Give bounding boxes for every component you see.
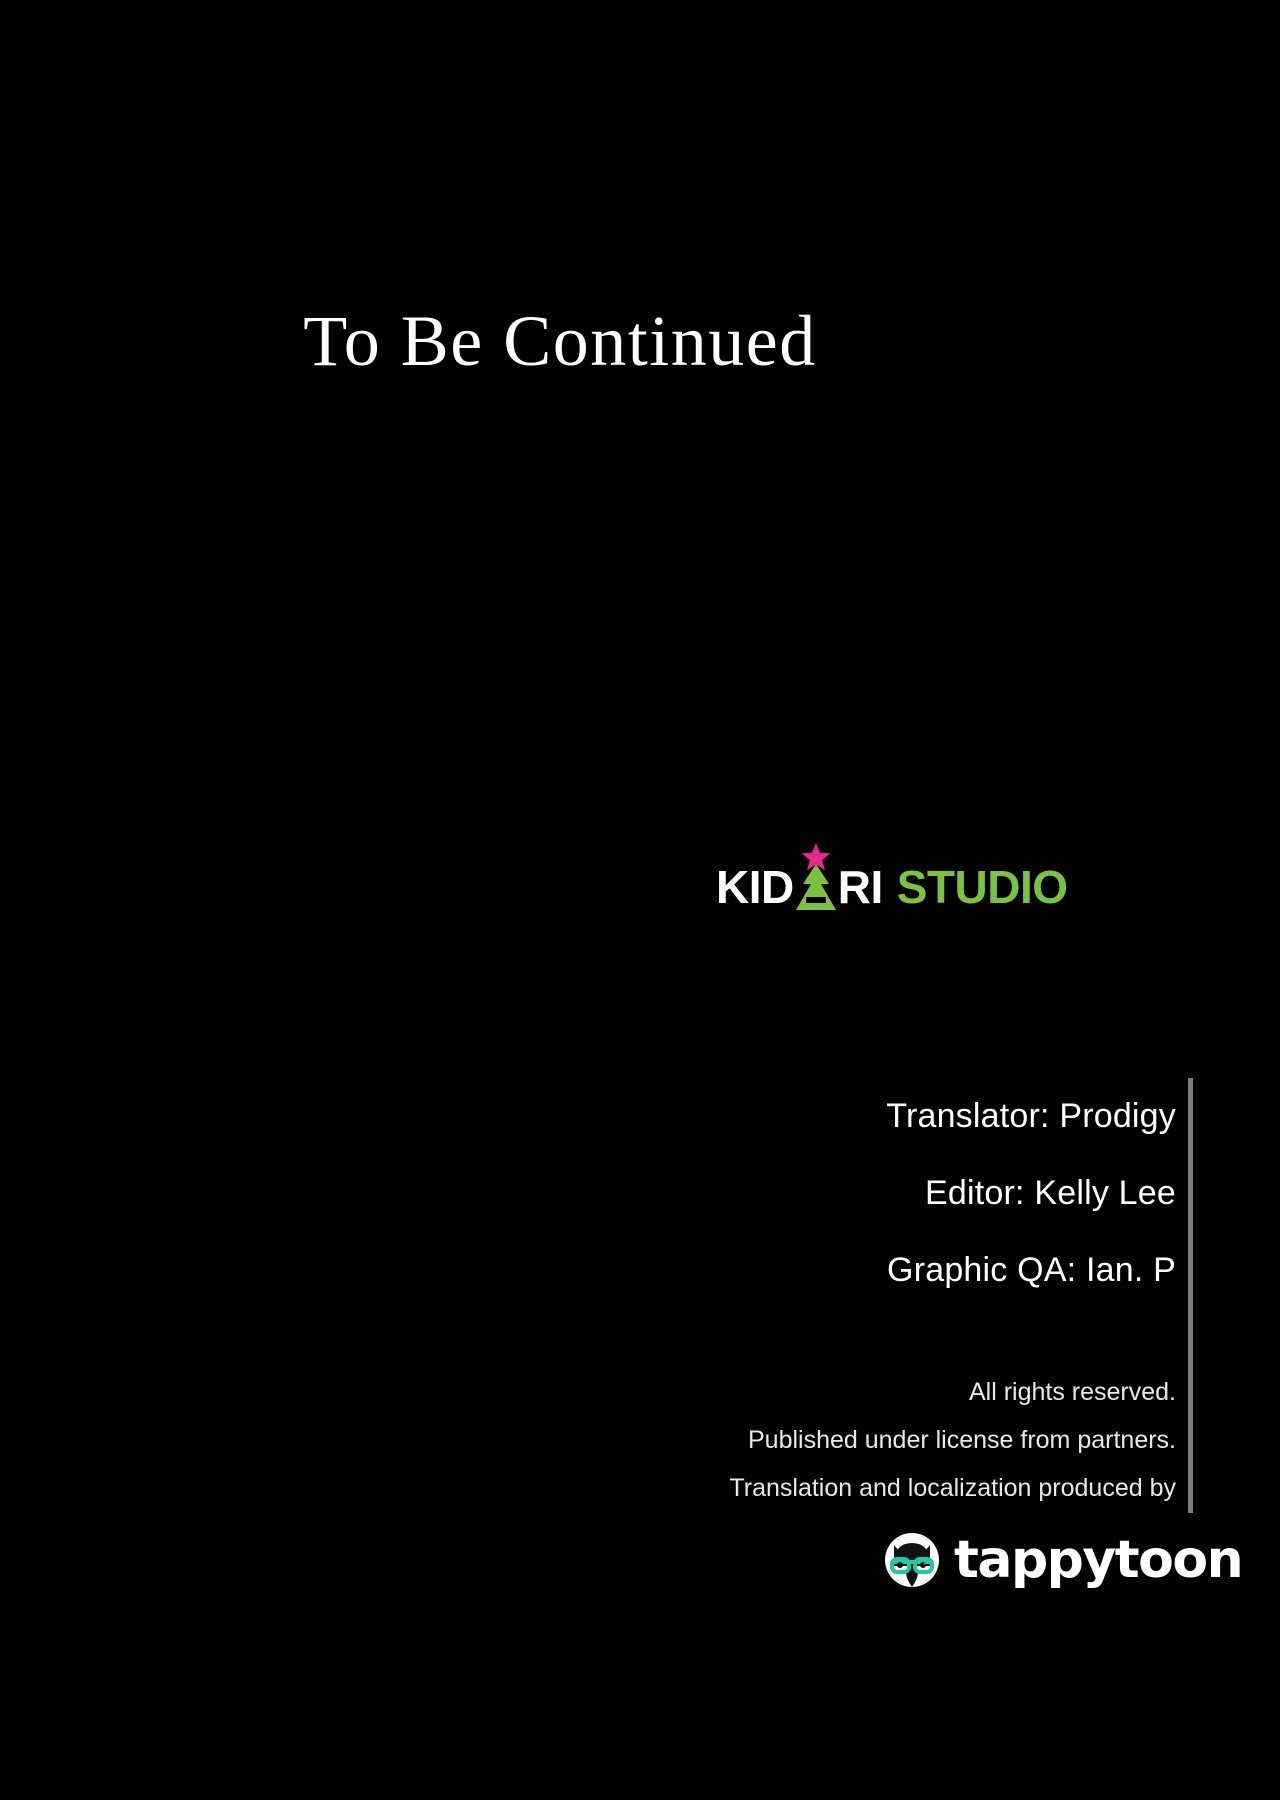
credits-block: Translator: Prodigy Editor: Kelly Lee Gr… <box>536 1078 1176 1309</box>
kidari-studio-wordmark: KID RI STUDIO <box>716 864 1068 910</box>
page-canvas: To Be Continued KID RI STUDIO <box>0 0 1280 1800</box>
credits-divider <box>1188 1078 1193 1513</box>
tappytoon-logo: tappytoon <box>884 1528 1242 1592</box>
to-be-continued-title: To Be Continued <box>0 305 1120 377</box>
kidari-studio-logo: KID RI STUDIO <box>716 820 1056 910</box>
cat-with-glasses-icon <box>884 1532 940 1588</box>
credit-translator: Translator: Prodigy <box>536 1078 1176 1155</box>
credit-editor: Editor: Kelly Lee <box>536 1155 1176 1232</box>
kidari-text-kid: KID <box>716 864 794 910</box>
kidari-text-studio: STUDIO <box>897 864 1068 910</box>
fineprint-block: All rights reserved. Published under lic… <box>416 1368 1176 1512</box>
tappytoon-wordmark: tappytoon <box>954 1534 1242 1586</box>
fineprint-localization: Translation and localization produced by <box>416 1464 1176 1512</box>
tree-a-icon <box>794 864 838 910</box>
fineprint-rights: All rights reserved. <box>416 1368 1176 1416</box>
fineprint-license: Published under license from partners. <box>416 1416 1176 1464</box>
kidari-text-ri: RI <box>838 864 883 910</box>
credit-graphic-qa: Graphic QA: Ian. P <box>536 1232 1176 1309</box>
